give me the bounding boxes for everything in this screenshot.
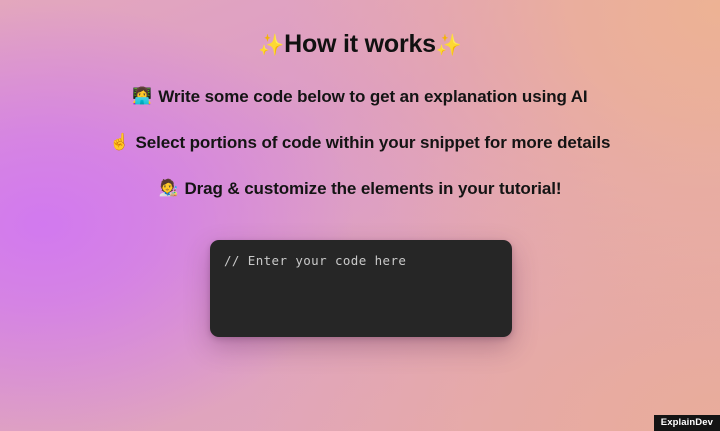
sparkles-icon-right: ✨	[436, 35, 462, 56]
code-editor-placeholder[interactable]: // Enter your code here	[224, 252, 498, 270]
step-item-drag-customize: 🧑‍🎨 Drag & customize the elements in you…	[159, 180, 562, 197]
step-item-select-portions: ☝️ Select portions of code within your s…	[110, 134, 611, 151]
artist-emoji: 🧑‍🎨	[159, 181, 179, 197]
step-label-write-code: Write some code below to get an explanat…	[158, 88, 587, 105]
code-editor[interactable]: // Enter your code here	[210, 240, 512, 337]
pointing-up-finger-emoji: ☝️	[110, 135, 130, 151]
explaindev-watermark: ExplainDev	[654, 415, 720, 431]
page-title-text: How it works	[284, 30, 436, 58]
step-label-select-portions: Select portions of code within your snip…	[136, 134, 611, 151]
step-label-drag-customize: Drag & customize the elements in your tu…	[184, 180, 561, 197]
step-item-write-code: 👩‍💻 Write some code below to get an expl…	[132, 88, 587, 105]
page-title: ✨How it works✨	[258, 32, 462, 57]
woman-technologist-emoji: 👩‍💻	[132, 89, 152, 105]
content-column: ✨How it works✨ 👩‍💻 Write some code below…	[0, 0, 720, 431]
app-canvas: ✨How it works✨ 👩‍💻 Write some code below…	[0, 0, 720, 431]
sparkles-icon-left: ✨	[258, 35, 284, 56]
